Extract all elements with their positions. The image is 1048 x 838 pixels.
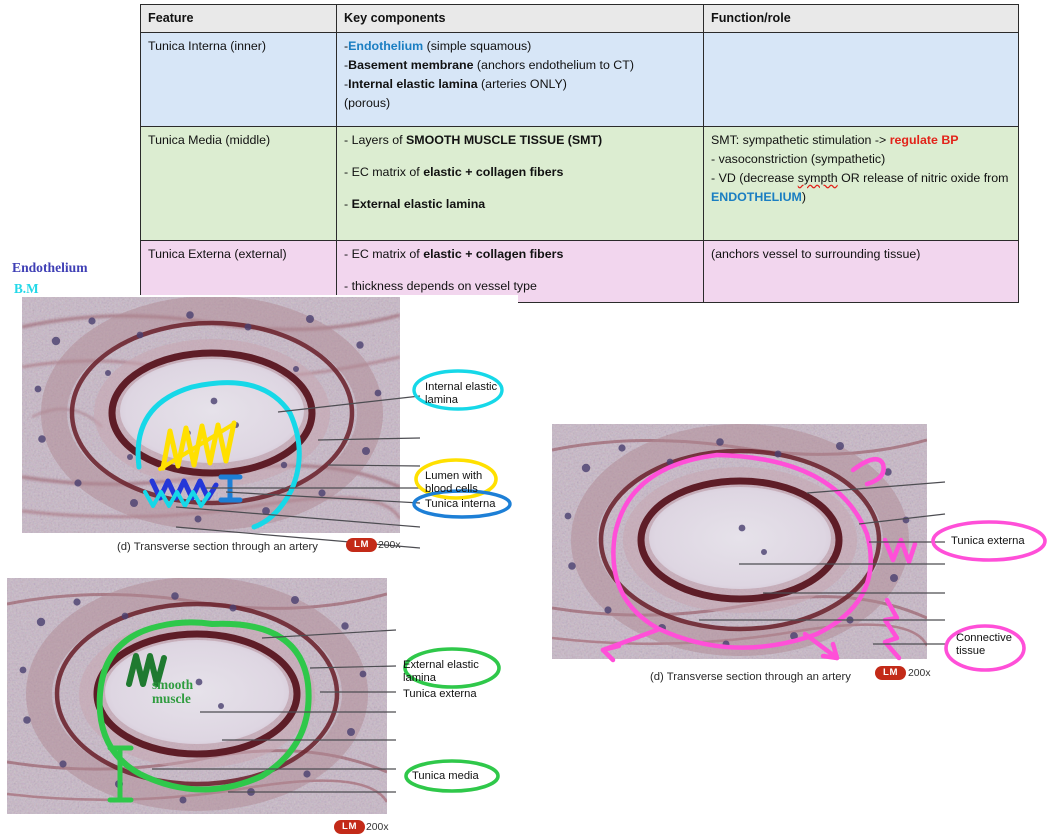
figure-caption-1: (d) Transverse section through an artery	[117, 541, 318, 553]
kc-term-external-elastic-lamina: External elastic lamina	[352, 197, 486, 211]
kc-term-elastic-collagen-2: elastic + collagen fibers	[423, 247, 563, 261]
cell-feature-externa: Tunica Externa (external)	[141, 241, 337, 303]
spacer	[344, 264, 696, 277]
kc-term-endothelium: Endothelium	[348, 39, 423, 53]
label-internal-elastic-lamina-1: Internal elastic lamina	[425, 381, 515, 408]
kc-line: - EC matrix of elastic + collagen fibers	[344, 245, 696, 264]
table-row-tunica-interna: Tunica Interna (inner) -Endothelium (sim…	[141, 33, 1019, 127]
magnification-2: 200x	[366, 822, 389, 833]
fn-line: (anchors vessel to surrounding tissue)	[711, 245, 1011, 264]
cell-key-components-externa: - EC matrix of elastic + collagen fibers…	[337, 241, 704, 303]
kc-rest: (porous)	[344, 96, 390, 110]
label-tunica-externa-2: Tunica externa	[403, 688, 477, 701]
cell-function-interna	[704, 33, 1019, 127]
kc-dash: -	[344, 197, 352, 211]
lm-badge-3: LM	[875, 666, 906, 680]
kc-line: -Endothelium (simple squamous)	[344, 37, 696, 56]
label-connective-tissue: Connective tissue	[956, 632, 1018, 659]
kc-line: (porous)	[344, 94, 696, 113]
kc-dash: -	[344, 165, 352, 179]
kc-rest: (anchors endothelium to CT)	[473, 58, 633, 72]
kc-term-basement-membrane: Basement membrane	[348, 58, 473, 72]
kc-rest: (arteries ONLY)	[478, 77, 567, 91]
column-header-feature: Feature	[141, 5, 337, 33]
column-header-key-components: Key components	[337, 5, 704, 33]
magnification-3: 200x	[908, 668, 931, 679]
kc-line: - Layers of SMOOTH MUSCLE TISSUE (SMT)	[344, 131, 696, 150]
kc-term-internal-elastic-lamina: Internal elastic lamina	[348, 77, 477, 91]
kc-dash: -	[344, 247, 352, 261]
fn-term-regulate-bp: regulate BP	[890, 133, 959, 147]
kc-lead: Layers of	[352, 133, 406, 147]
fn-line: SMT: sympathetic stimulation -> regulate…	[711, 131, 1011, 150]
cell-key-components-media: - Layers of SMOOTH MUSCLE TISSUE (SMT) -…	[337, 127, 704, 241]
lm-badge-2: LM	[334, 820, 365, 834]
micrograph-artery-transverse-3	[552, 424, 927, 659]
cell-feature-media: Tunica Media (middle)	[141, 127, 337, 241]
vessel-tunics-table: Feature Key components Function/role Tun…	[140, 4, 1019, 303]
fn-term-endothelium: ENDOTHELIUM	[711, 190, 802, 204]
kc-dash: -	[344, 133, 352, 147]
cell-feature-interna: Tunica Interna (inner)	[141, 33, 337, 127]
lm-badge-1: LM	[346, 538, 377, 552]
figure-panel-artery-bottom-left: External elastic lamina Tunica externa T…	[0, 574, 518, 838]
column-header-function-role: Function/role	[704, 5, 1019, 33]
kc-term-elastic-collagen: elastic + collagen fibers	[423, 165, 563, 179]
kc-lead: EC matrix of	[352, 247, 424, 261]
kc-rest: (simple squamous)	[423, 39, 531, 53]
kc-line: - thickness depends on vessel type	[344, 277, 696, 296]
label-tunica-interna: Tunica interna	[425, 498, 495, 511]
micrograph-artery-transverse-1	[22, 297, 400, 533]
magnification-1: 200x	[378, 540, 401, 551]
table-header-row: Feature Key components Function/role	[141, 5, 1019, 33]
fn-misspelled-word: sympth	[798, 171, 838, 185]
kc-line: - External elastic lamina	[344, 195, 696, 214]
label-tunica-media: Tunica media	[412, 770, 479, 783]
label-external-elastic-lamina: External elastic lamina	[403, 659, 495, 686]
kc-line: - EC matrix of elastic + collagen fibers	[344, 163, 696, 182]
kc-dash: -	[344, 279, 352, 293]
kc-line: -Basement membrane (anchors endothelium …	[344, 56, 696, 75]
figure-panel-artery-top-left: Internal elastic lamina Lumen with blood…	[0, 295, 518, 570]
label-tunica-externa-3: Tunica externa	[951, 535, 1025, 548]
table-row-tunica-media: Tunica Media (middle) - Layers of SMOOTH…	[141, 127, 1019, 241]
figure-panel-artery-right: Tunica externa Connective tissue (d) Tra…	[537, 422, 1048, 697]
spacer	[344, 182, 696, 195]
figure-caption-3: (d) Transverse section through an artery	[650, 671, 851, 683]
kc-lead: thickness depends on vessel type	[352, 279, 537, 293]
kc-lead: EC matrix of	[352, 165, 424, 179]
fn-line: - VD (decrease sympth OR release of nitr…	[711, 169, 1011, 207]
cell-function-media: SMT: sympathetic stimulation -> regulate…	[704, 127, 1019, 241]
handwritten-key-endothelium: Endothelium	[12, 260, 88, 276]
micrograph-texture-3	[552, 424, 927, 659]
cell-function-externa: (anchors vessel to surrounding tissue)	[704, 241, 1019, 303]
label-lumen-with-blood-cells: Lumen with blood cells	[425, 470, 509, 497]
table-row-tunica-externa: Tunica Externa (external) - EC matrix of…	[141, 241, 1019, 303]
micrograph-texture-1	[22, 297, 400, 533]
fn-line: - vasoconstriction (sympathetic)	[711, 150, 1011, 169]
spacer	[344, 150, 696, 163]
kc-term-smt: SMOOTH MUSCLE TISSUE (SMT)	[406, 133, 602, 147]
handwritten-smooth-muscle: smooth muscle	[152, 678, 214, 707]
kc-line: -Internal elastic lamina (arteries ONLY)	[344, 75, 696, 94]
cell-key-components-interna: -Endothelium (simple squamous) -Basement…	[337, 33, 704, 127]
